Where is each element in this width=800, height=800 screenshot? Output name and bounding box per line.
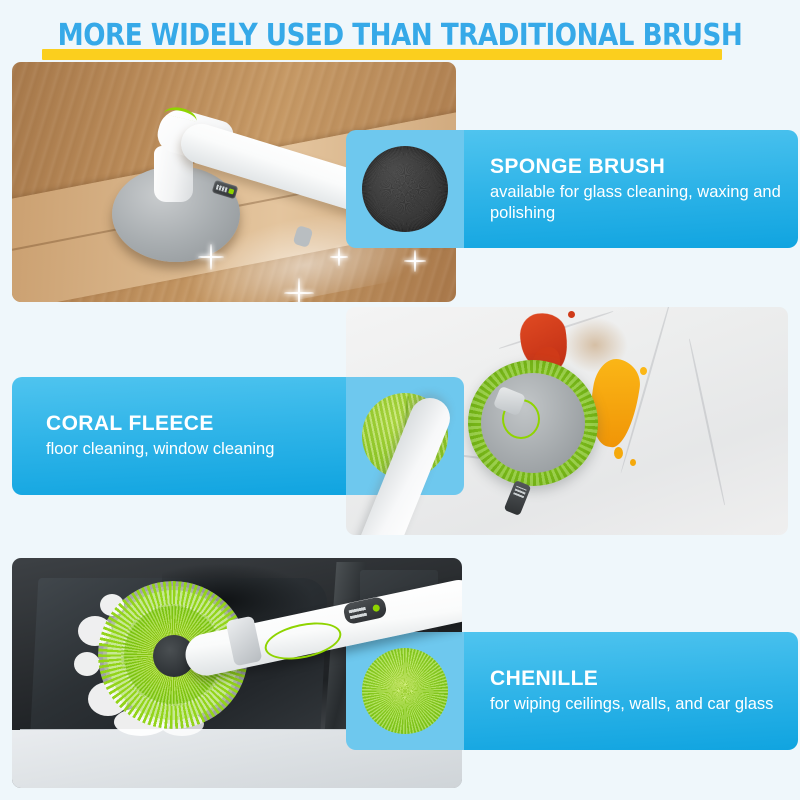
photo-marble-counter xyxy=(346,307,788,535)
page-title: MORE WIDELY USED THAN TRADITIONAL BRUSH xyxy=(0,18,800,60)
title-text: MORE WIDELY USED THAN TRADITIONAL BRUSH xyxy=(12,18,788,53)
chenille-pad-icon xyxy=(362,648,448,734)
callout-text-panel: SPONGE BRUSH available for glass cleanin… xyxy=(464,130,798,248)
infographic-root: MORE WIDELY USED THAN TRADITIONAL BRUSH … xyxy=(0,0,800,800)
card-title: SPONGE BRUSH xyxy=(490,155,798,179)
callout-text-panel: CORAL FLEECE floor cleaning, window clea… xyxy=(12,377,346,495)
callout-text-panel: CHENILLE for wiping ceilings, walls, and… xyxy=(464,632,798,750)
stain-splatter xyxy=(614,447,623,459)
stain-splatter xyxy=(640,367,647,375)
pad-swatch-panel xyxy=(346,130,464,248)
callout-card-chenille: CHENILLE for wiping ceilings, walls, and… xyxy=(346,632,798,750)
stain-splatter xyxy=(630,459,636,466)
card-description: available for glass cleaning, waxing and… xyxy=(490,182,798,224)
card-title: CHENILLE xyxy=(490,667,798,691)
card-description: for wiping ceilings, walls, and car glas… xyxy=(490,694,798,715)
card-description: floor cleaning, window cleaning xyxy=(46,439,346,460)
sponge-pad-icon xyxy=(362,146,448,232)
callout-card-sponge-brush: SPONGE BRUSH available for glass cleanin… xyxy=(346,130,798,248)
card-title: CORAL FLEECE xyxy=(46,412,346,436)
pad-swatch-panel xyxy=(346,632,464,750)
stain-splatter xyxy=(568,311,575,318)
